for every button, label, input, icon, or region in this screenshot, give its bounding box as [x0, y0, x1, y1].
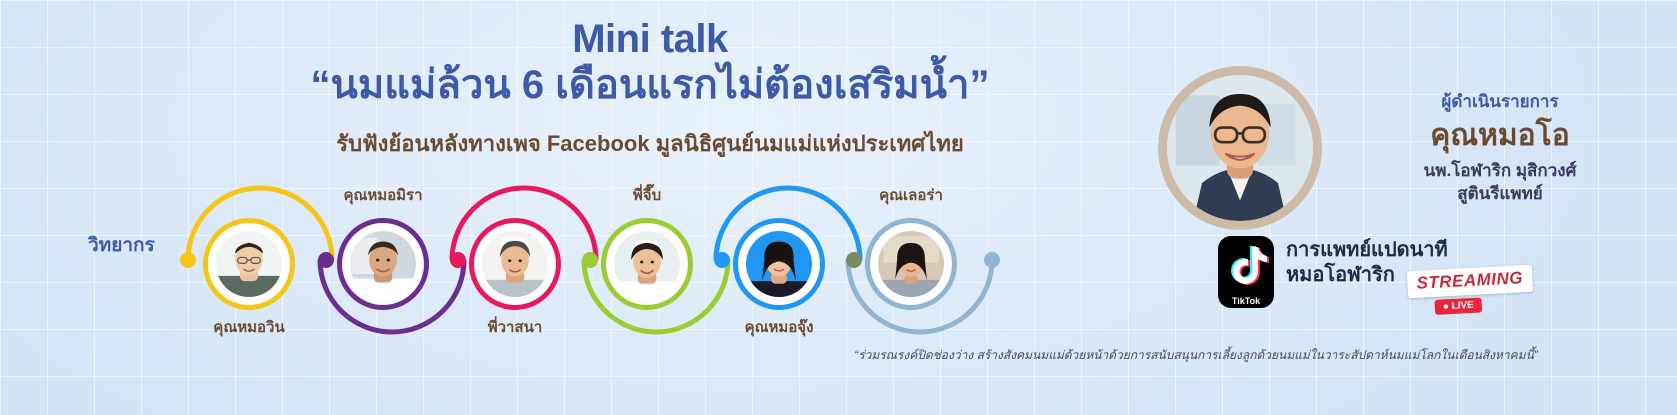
speaker-avatar-2[interactable] [337, 218, 429, 310]
streaming-label: STREAMING [1407, 265, 1533, 298]
tiktok-channel-line1: การแพทย์แปดนาที [1286, 238, 1448, 263]
title-eyebrow: Mini talk [250, 18, 1050, 60]
speakers-section: วิทยากร [0, 185, 1060, 345]
speaker-name-1: คุณหมอวิน [189, 315, 309, 339]
tiktok-icon[interactable]: TikTok [1218, 236, 1274, 308]
host-text-block: ผู้ดำเนินรายการ คุณหมอโอ นพ.โอฬาริก มุสิ… [1350, 88, 1650, 206]
host-role-label: ผู้ดำเนินรายการ [1350, 88, 1650, 115]
speaker-photo-2 [350, 231, 416, 297]
speaker-avatar-1[interactable] [203, 218, 295, 310]
host-photo [1167, 75, 1313, 221]
host-specialty: สูตินรีแพทย์ [1350, 183, 1650, 206]
speaker-photo-4 [614, 231, 680, 297]
speaker-name-3: พี่วาสนา [455, 315, 575, 339]
tiktok-wordmark: TikTok [1218, 296, 1274, 306]
speaker-avatar-5[interactable] [733, 218, 825, 310]
speaker-name-5: คุณหมอจุ๊ง [719, 315, 839, 339]
speaker-photo-6 [878, 231, 944, 297]
streaming-badge: STREAMING ● LIVE [1407, 265, 1534, 316]
speaker-avatar-6[interactable] [865, 218, 957, 310]
speaker-name-4: พี่จี๊บ [587, 183, 707, 207]
host-avatar[interactable] [1158, 66, 1322, 230]
live-label: ● LIVE [1434, 297, 1482, 314]
speaker-avatar-3[interactable] [469, 218, 561, 310]
footer-disclaimer: “ร่วมรณรงค์ปิดช่องว่าง สร้างสังคมนมแม่ด้… [846, 346, 1546, 365]
banner-canvas: Mini talk “นมแม่ล้วน 6 เดือนแรกไม่ต้องเส… [0, 0, 1677, 415]
speaker-photo-5 [746, 231, 812, 297]
title-block: Mini talk “นมแม่ล้วน 6 เดือนแรกไม่ต้องเส… [250, 18, 1050, 161]
speaker-name-2: คุณหมอมิรา [323, 183, 443, 207]
speaker-avatar-4[interactable] [601, 218, 693, 310]
title-subtitle: รับฟังย้อนหลังทางเพจ Facebook มูลนิธิศูน… [250, 126, 1050, 161]
host-nickname: คุณหมอโอ [1350, 119, 1650, 152]
host-full-name: นพ.โอฬาริก มุสิกวงศ์ [1350, 160, 1650, 183]
speaker-photo-3 [482, 231, 548, 297]
speaker-photo-1 [216, 231, 282, 297]
page-title: “นมแม่ล้วน 6 เดือนแรกไม่ต้องเสริมน้ำ” [250, 62, 1050, 108]
speaker-name-6: คุณเลอร่า [851, 183, 971, 207]
